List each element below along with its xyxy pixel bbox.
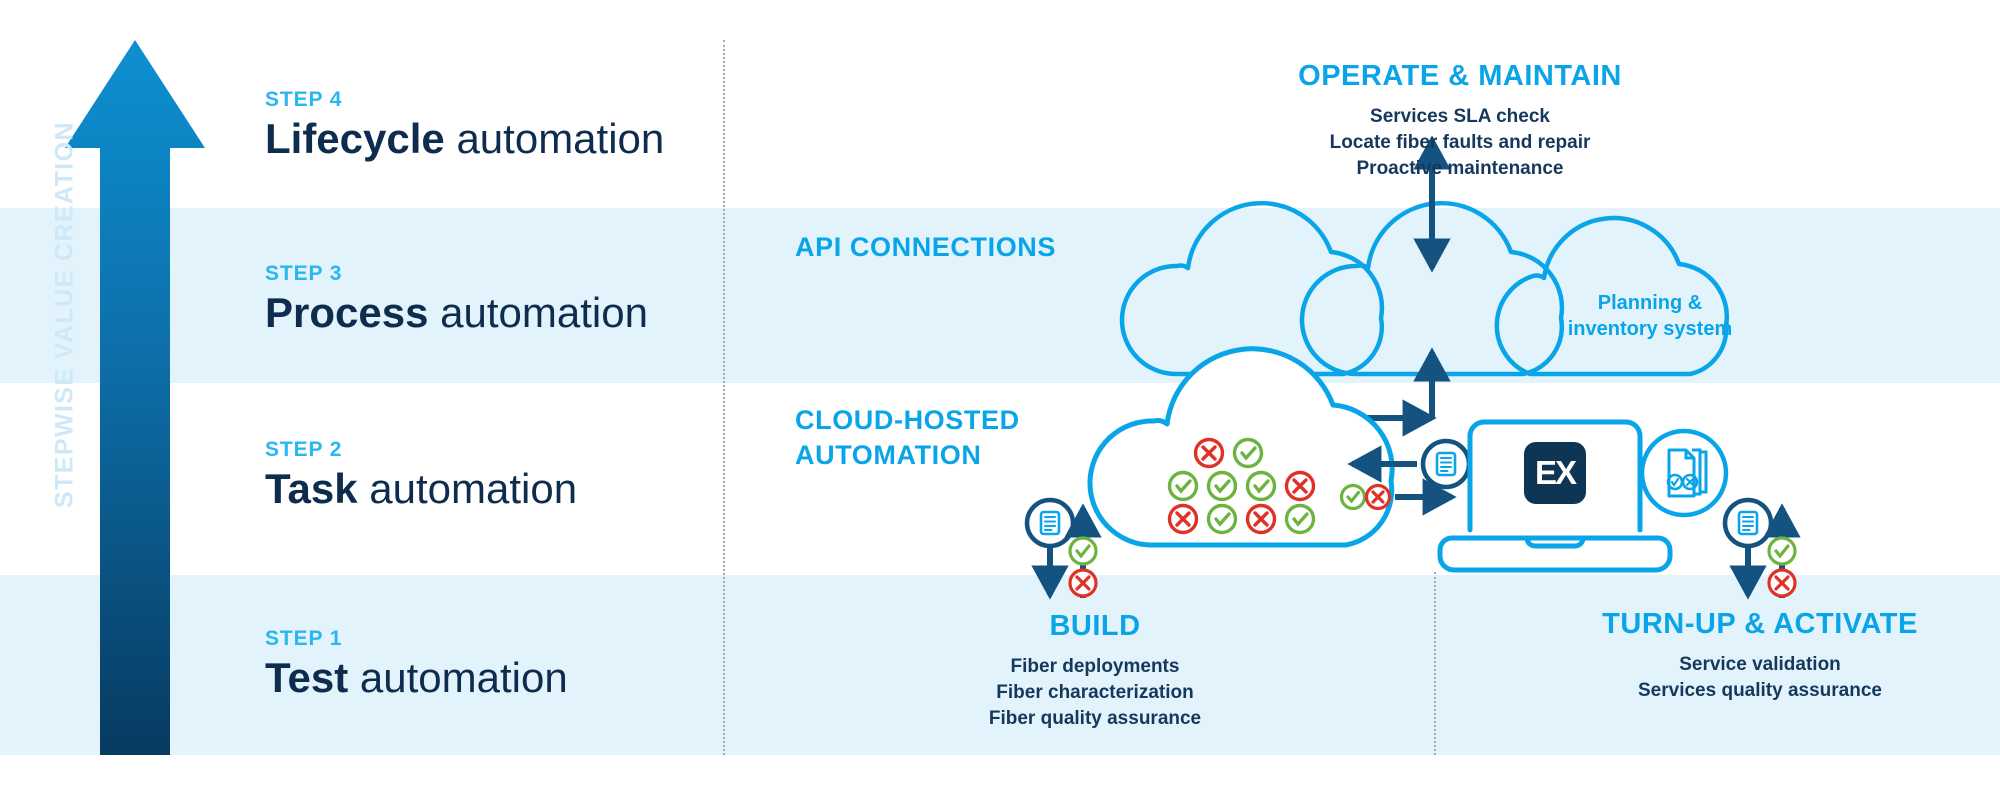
step-title-rest-2: automation [358, 465, 577, 512]
step-title-rest-4: automation [445, 115, 664, 162]
step-kicker-2: STEP 2 [265, 438, 577, 462]
step-block-1: STEP 1 Test automation [265, 627, 568, 700]
ex-logo-text: EX [1524, 442, 1586, 504]
label-cloud-line1: CLOUD-HOSTED [795, 403, 1020, 438]
planning-cloud-line2: inventory system [1545, 316, 1755, 342]
column-line: Fiber characterization [905, 680, 1285, 706]
step-title-2: Task automation [265, 467, 577, 511]
label-api-connections: API CONNECTIONS [795, 232, 1056, 263]
planning-cloud-caption: Planning & inventory system [1545, 290, 1755, 342]
document-icon-circle [1423, 441, 1469, 487]
planning-cloud-line1: Planning & [1545, 290, 1755, 316]
document-icon-circle [1725, 500, 1771, 546]
step-title-4: Lifecycle automation [265, 117, 664, 161]
column-line: Services quality assurance [1560, 678, 1960, 704]
step-kicker-1: STEP 1 [265, 627, 568, 651]
build-connector-group [1027, 500, 1096, 598]
turnup-connector-group [1725, 500, 1795, 598]
step-title-bold-3: Process [265, 289, 428, 336]
step-kicker-4: STEP 4 [265, 88, 664, 112]
report-icon-circle [1642, 431, 1726, 515]
step-kicker-3: STEP 3 [265, 262, 648, 286]
step-title-bold-4: Lifecycle [265, 115, 445, 162]
step-title-rest-3: automation [428, 289, 647, 336]
step-block-3: STEP 3 Process automation [265, 262, 648, 335]
label-cloud-line2: AUTOMATION [795, 438, 1020, 473]
infographic-canvas: EX Planning & inventory system STEPWISE … [0, 0, 2000, 800]
column-operate-maintain: OPERATE & MAINTAIN Services SLA check Lo… [1290, 60, 1630, 182]
document-icon-circle [1027, 500, 1073, 546]
step-title-bold-2: Task [265, 465, 358, 512]
automation-cloud [1090, 349, 1392, 545]
column-heading-operate: OPERATE & MAINTAIN [1290, 60, 1630, 93]
column-heading-build: BUILD [905, 610, 1285, 643]
divider-left [723, 40, 725, 755]
step-title-3: Process automation [265, 291, 648, 335]
step-title-rest-1: automation [348, 654, 567, 701]
column-line: Fiber deployments [905, 654, 1285, 680]
step-block-2: STEP 2 Task automation [265, 438, 577, 511]
column-line: Fiber quality assurance [905, 706, 1285, 732]
column-line: Services SLA check [1290, 104, 1630, 130]
divider-right [1434, 572, 1436, 755]
column-line: Locate fiber faults and repair [1290, 130, 1630, 156]
cloud-cluster [1122, 203, 1727, 374]
column-turnup-activate: TURN-UP & ACTIVATE Service validation Se… [1560, 608, 1960, 704]
column-heading-turnup: TURN-UP & ACTIVATE [1560, 608, 1960, 641]
step-block-4: STEP 4 Lifecycle automation [265, 88, 664, 161]
label-cloud-hosted-automation: CLOUD-HOSTED AUTOMATION [795, 403, 1020, 472]
step-title-1: Test automation [265, 656, 568, 700]
column-line: Service validation [1560, 652, 1960, 678]
column-line: Proactive maintenance [1290, 156, 1630, 182]
column-build: BUILD Fiber deployments Fiber characteri… [905, 610, 1285, 732]
step-title-bold-1: Test [265, 654, 348, 701]
stepwise-value-arrow [65, 40, 205, 755]
